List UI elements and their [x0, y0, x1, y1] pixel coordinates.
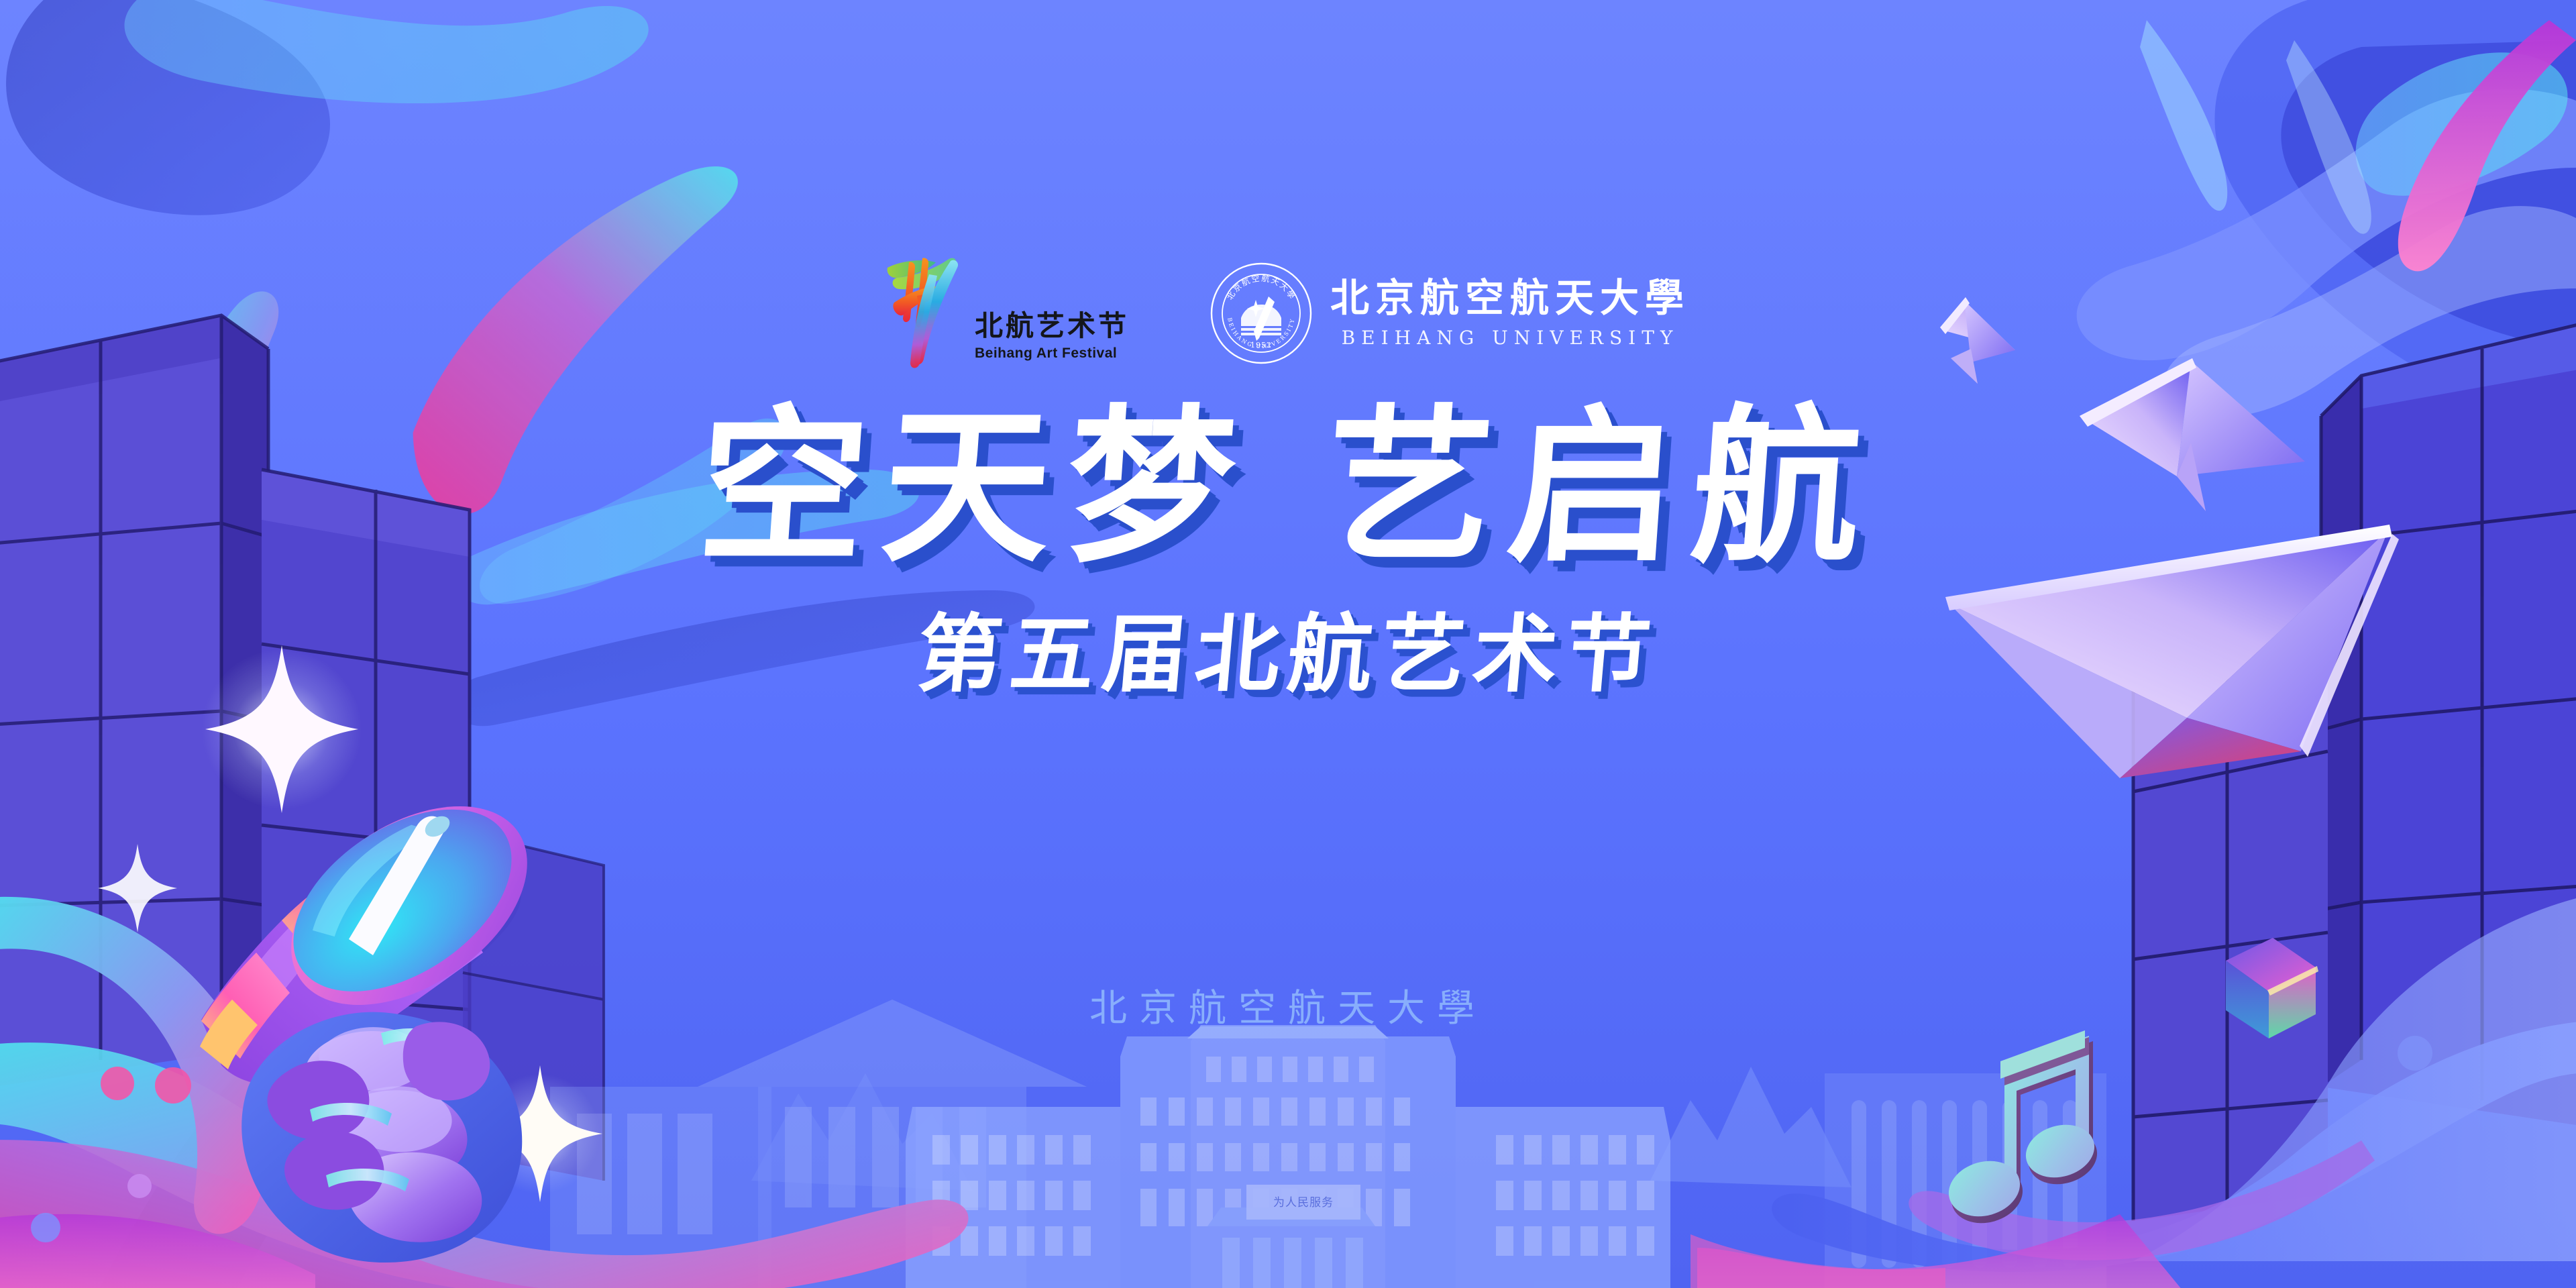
megaphone-in-hand-icon [0, 0, 2576, 1288]
poster-canvas: 北航艺术节 Beihang Art Festival 北京航空航天大學 BEIH… [0, 0, 2576, 1288]
beihang-university-seal: 北京航空航天大學 BEIHANG UNIVERSITY 1952 [1210, 262, 1313, 365]
festival-logo-text: 北航艺术节 Beihang Art Festival [975, 311, 1129, 371]
university-logo-text: 北京航空航天大學 BEIHANG UNIVERSITY [1330, 278, 1690, 349]
university-logo: 北京航空航天大學 BEIHANG UNIVERSITY 1952 北京航空航天大… [1210, 262, 1690, 365]
svg-text:北京航空航天大學: 北京航空航天大學 [1225, 273, 1297, 302]
logo-row: 北航艺术节 Beihang Art Festival 北京航空航天大學 BEIH… [0, 250, 2576, 377]
festival-en-name: Beihang Art Festival [975, 345, 1129, 362]
festival-logo: 北航艺术节 Beihang Art Festival [886, 256, 1129, 371]
university-cn-name: 北京航空航天大學 [1330, 278, 1690, 317]
university-en-name: BEIHANG UNIVERSITY [1342, 327, 1679, 349]
festival-cn-name: 北航艺术节 [975, 311, 1129, 341]
art-festival-ribbon-mark [886, 256, 965, 371]
svg-text:1952: 1952 [1250, 341, 1272, 350]
